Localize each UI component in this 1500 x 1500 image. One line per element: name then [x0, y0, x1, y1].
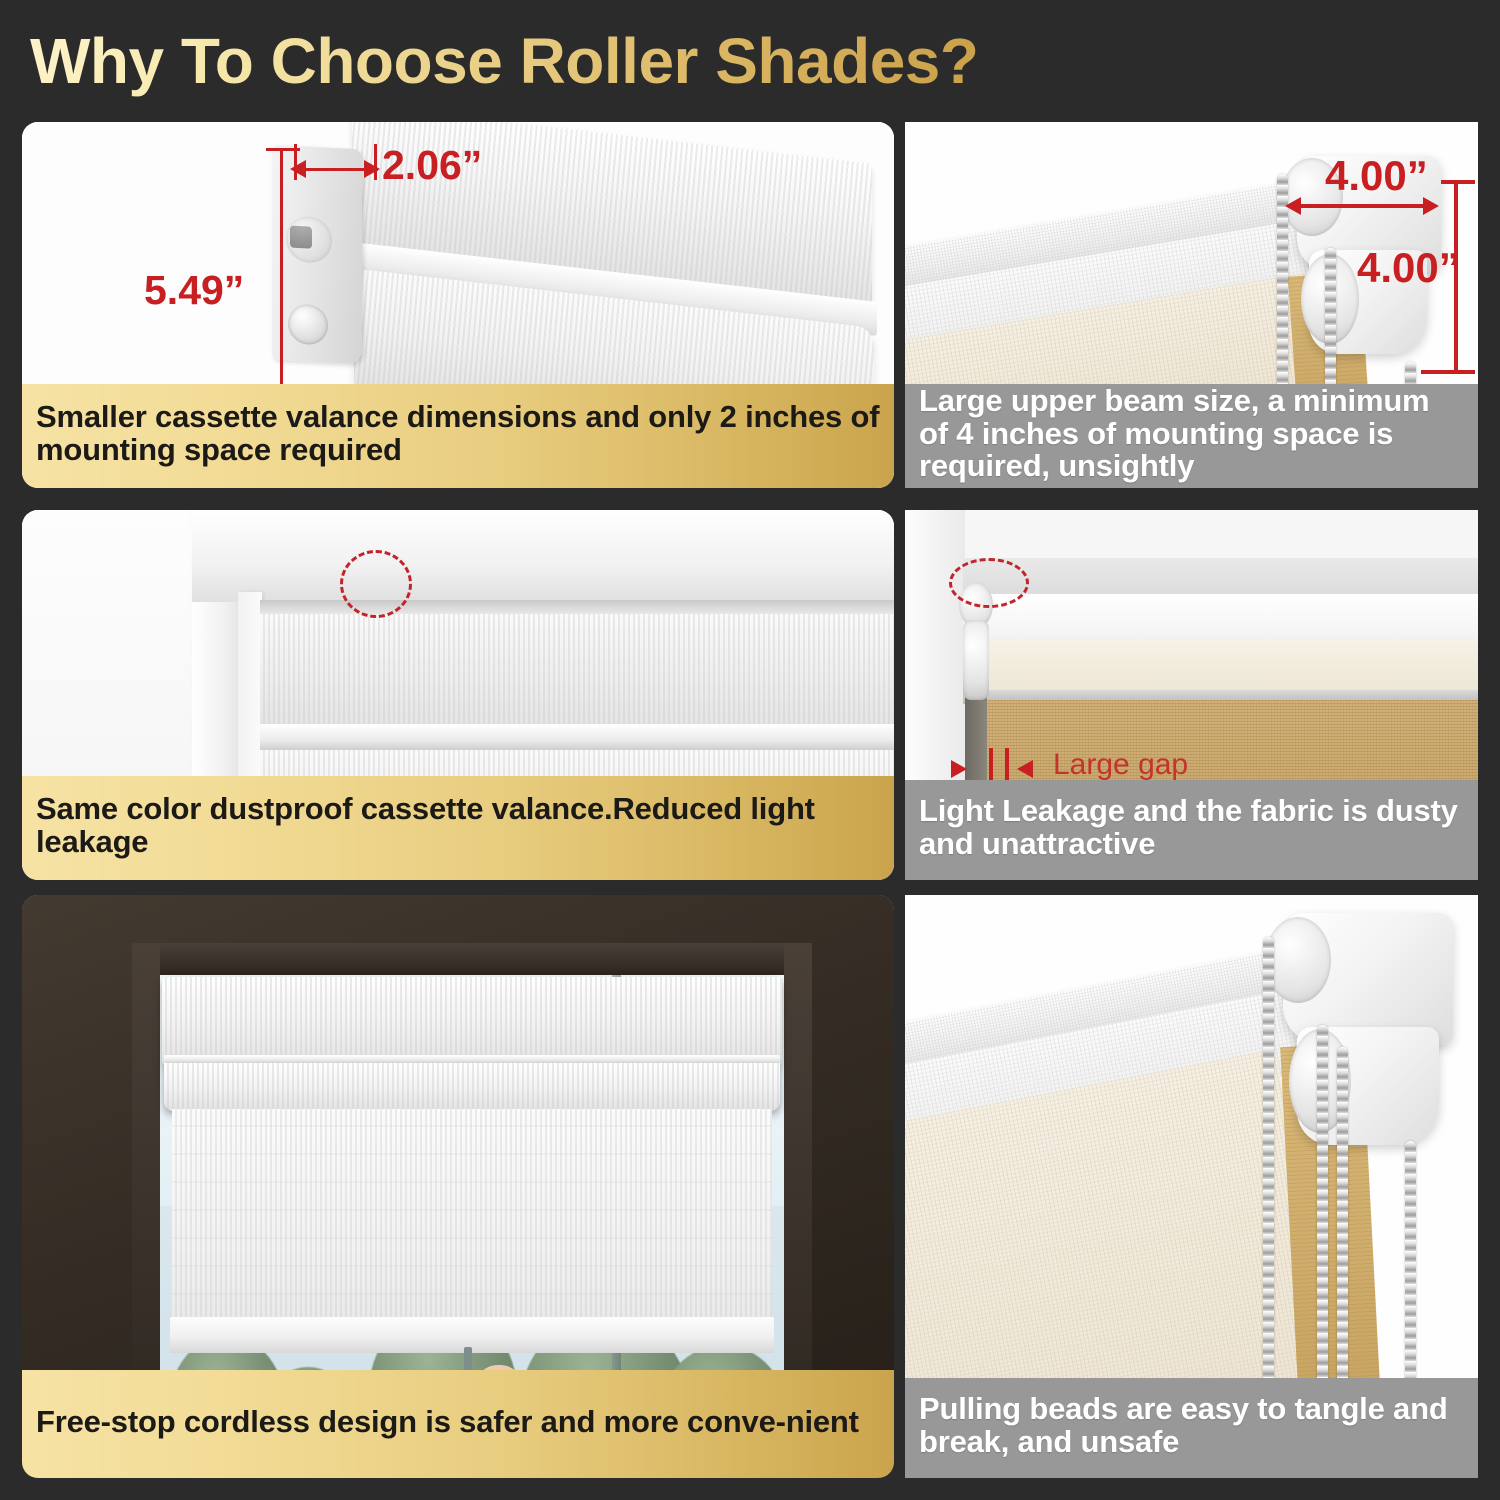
panel-pulling-beads: Pulling beads are easy to tangle and bre… [905, 895, 1478, 1478]
window-head-trim [192, 510, 894, 602]
caption-text: Same color dustproof cassette valance.Re… [36, 793, 880, 859]
gap-arrow-left [951, 760, 967, 778]
panel-light-leakage: Large gap Light Leakage and the fabric i… [905, 510, 1478, 880]
dimension-width-label: 2.06” [382, 142, 482, 189]
panel-smaller-gap-caption: Same color dustproof cassette valance.Re… [22, 776, 894, 880]
gap-arrow-right [1017, 760, 1033, 778]
panel-pulling-beads-caption: Pulling beads are easy to tangle and bre… [905, 1378, 1478, 1478]
caption-text: Large upper beam size, a minimum of 4 in… [919, 385, 1464, 484]
dim-height-tick-top [266, 148, 300, 151]
panel-cordless-design-caption: Free-stop cordless design is safer and m… [22, 1370, 894, 1478]
panel-cordless-design: Free-stop cordless design is safer and m… [22, 895, 894, 1478]
beam-cream-band [963, 640, 1478, 696]
comparison-grid: 2.06” 5.49” Smaller cassette valance dim… [0, 0, 1500, 1500]
dim-width-arrow-left [290, 160, 306, 178]
panel-light-leakage-caption: Light Leakage and the fabric is dusty an… [905, 780, 1478, 880]
callout-circle [340, 550, 412, 618]
caption-text: Pulling beads are easy to tangle and bre… [919, 1393, 1464, 1459]
panel-cassette-valance: 2.06” 5.49” Smaller cassette valance dim… [22, 122, 894, 488]
caption-text: Free-stop cordless design is safer and m… [36, 1406, 880, 1439]
caption-text: Smaller cassette valance dimensions and … [36, 401, 880, 467]
beam-dimension-height-label: 4.00” [1357, 244, 1460, 292]
shade-bottom-rail [170, 1317, 774, 1353]
gap-label: Large gap [1053, 748, 1188, 782]
panel-smaller-gap: smaller gap Same color dustproof cassett… [22, 510, 894, 880]
panel-large-upper-beam: 4.00” 4.00” Large upper beam size, a min… [905, 122, 1478, 488]
shade-fabric-upper [260, 614, 894, 736]
shade-fabric [172, 1109, 772, 1321]
valance-bottom-rail [260, 724, 894, 750]
beam-dim-height-tick-top [1441, 180, 1475, 184]
beam-dim-width-line [1293, 204, 1435, 208]
beam-dimension-width-label: 4.00” [1325, 152, 1428, 200]
window-reveal-top [132, 943, 812, 975]
callout-circle [949, 558, 1029, 608]
dimension-height-label: 5.49” [144, 267, 244, 314]
valance-end-cap [272, 145, 362, 365]
cassette-valance [162, 977, 782, 1065]
beam-dim-height-tick-bottom [1421, 370, 1475, 374]
beam-bracket-piece [963, 620, 989, 700]
roller-end-cap [1265, 917, 1331, 1003]
panel-cassette-valance-caption: Smaller cassette valance dimensions and … [22, 384, 894, 488]
valance-lower-lip [164, 1063, 780, 1111]
panel-large-upper-beam-caption: Large upper beam size, a minimum of 4 in… [905, 384, 1478, 488]
beam-dim-width-arrow-left [1285, 197, 1301, 215]
dim-width-arrow-right [364, 160, 380, 178]
caption-text: Light Leakage and the fabric is dusty an… [919, 795, 1464, 861]
